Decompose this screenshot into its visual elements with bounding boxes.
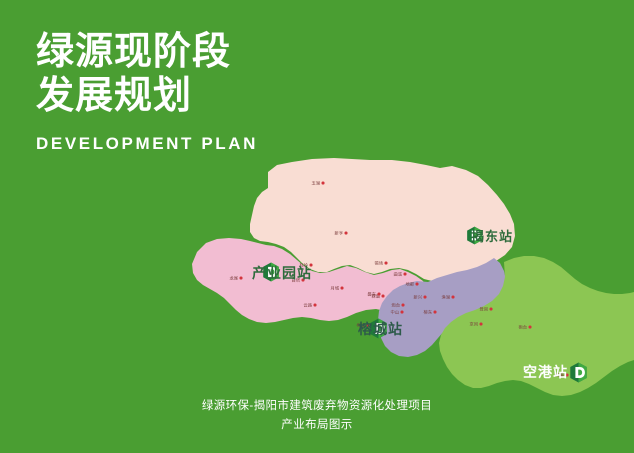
town-label: 炮台 xyxy=(392,303,405,308)
subtitle-development-plan: DEVELOPMENT PLAN xyxy=(36,134,366,154)
station-marker-jiedong[interactable]: 揭东站 xyxy=(466,226,513,245)
town-label-text: 新兴 xyxy=(414,295,423,300)
town-dot-icon xyxy=(240,277,243,280)
town-label: 玉湖 xyxy=(312,181,325,186)
town-label: 榕东 xyxy=(424,310,437,315)
town-label-text: 曲溪 xyxy=(394,272,403,277)
town-label-text: 炮台 xyxy=(392,303,401,308)
town-label-text: 玉湖 xyxy=(312,181,321,186)
town-label-text: 登岗 xyxy=(480,307,489,312)
town-dot-icon xyxy=(341,287,344,290)
station-label-konggang: 空港站 xyxy=(523,362,568,382)
town-dot-icon xyxy=(401,311,404,314)
town-dot-icon xyxy=(345,232,348,235)
town-label-text: 新亨 xyxy=(335,231,344,236)
town-label: 磐东 xyxy=(368,292,381,297)
town-dot-icon xyxy=(529,326,532,329)
town-dot-icon xyxy=(322,182,325,185)
town-label-text: 龙尾 xyxy=(230,276,239,281)
town-dot-icon xyxy=(404,273,407,276)
town-dot-icon xyxy=(314,304,317,307)
town-label: 渔湖 xyxy=(442,295,455,300)
station-marker-chanyeyuan[interactable]: 产业园站 xyxy=(252,262,312,283)
town-label: 新兴 xyxy=(414,295,427,300)
town-label: 云路 xyxy=(304,303,317,308)
town-label: 京冈 xyxy=(470,322,483,327)
station-label-rongcheng: 榕城站 xyxy=(358,319,403,339)
town-label-text: 锡场 xyxy=(375,261,384,266)
town-label: 月城 xyxy=(331,286,344,291)
town-label-text: 渔湖 xyxy=(442,295,451,300)
town-label-text: 砲台 xyxy=(519,325,528,330)
station-label-chanyeyuan: 产业园站 xyxy=(252,263,312,283)
development-plan-poster: 绿源现阶段 发展规划 DEVELOPMENT PLAN 揭东站 产业园站 榕城站… xyxy=(0,0,634,453)
town-label-text: 榕东 xyxy=(424,310,433,315)
town-label-text: 云路 xyxy=(304,303,313,308)
town-dot-icon xyxy=(480,323,483,326)
caption-line-1: 绿源环保-揭阳市建筑废弃物资源化处理项目 xyxy=(0,397,634,416)
town-dot-icon xyxy=(490,308,493,311)
headline-block: 绿源现阶段 发展规划 DEVELOPMENT PLAN xyxy=(36,30,366,154)
station-marker-rongcheng[interactable]: 榕城站 xyxy=(358,318,403,339)
town-dot-icon xyxy=(382,295,385,298)
town-label-text: 京冈 xyxy=(470,322,479,327)
caption-line-2: 产业布局图示 xyxy=(0,416,634,435)
title-line-1: 绿源现阶段 xyxy=(36,30,366,74)
town-label: 砲台 xyxy=(519,325,532,330)
town-dot-icon xyxy=(452,296,455,299)
town-dot-icon xyxy=(378,293,381,296)
town-label-text: 月城 xyxy=(331,286,340,291)
town-dot-icon xyxy=(385,262,388,265)
town-label: 锡场 xyxy=(375,261,388,266)
town-label-text: 磐东 xyxy=(368,292,377,297)
town-label: 登岗 xyxy=(480,307,493,312)
project-caption: 绿源环保-揭阳市建筑废弃物资源化处理项目 产业布局图示 xyxy=(0,397,634,435)
town-label: 新亨 xyxy=(335,231,348,236)
title-line-2: 发展规划 xyxy=(36,74,366,118)
town-label-text: 地都 xyxy=(406,282,415,287)
station-label-jiedong: 揭东站 xyxy=(471,226,513,245)
town-label-text: 中山 xyxy=(391,310,400,315)
town-label: 龙尾 xyxy=(230,276,243,281)
town-dot-icon xyxy=(424,296,427,299)
town-dot-icon xyxy=(416,283,419,286)
town-dot-icon xyxy=(402,304,405,307)
town-label: 地都 xyxy=(406,282,419,287)
station-marker-konggang[interactable]: 空港站 xyxy=(523,362,573,382)
town-dot-icon xyxy=(434,311,437,314)
town-label: 曲溪 xyxy=(394,272,407,277)
town-label: 中山 xyxy=(391,310,404,315)
